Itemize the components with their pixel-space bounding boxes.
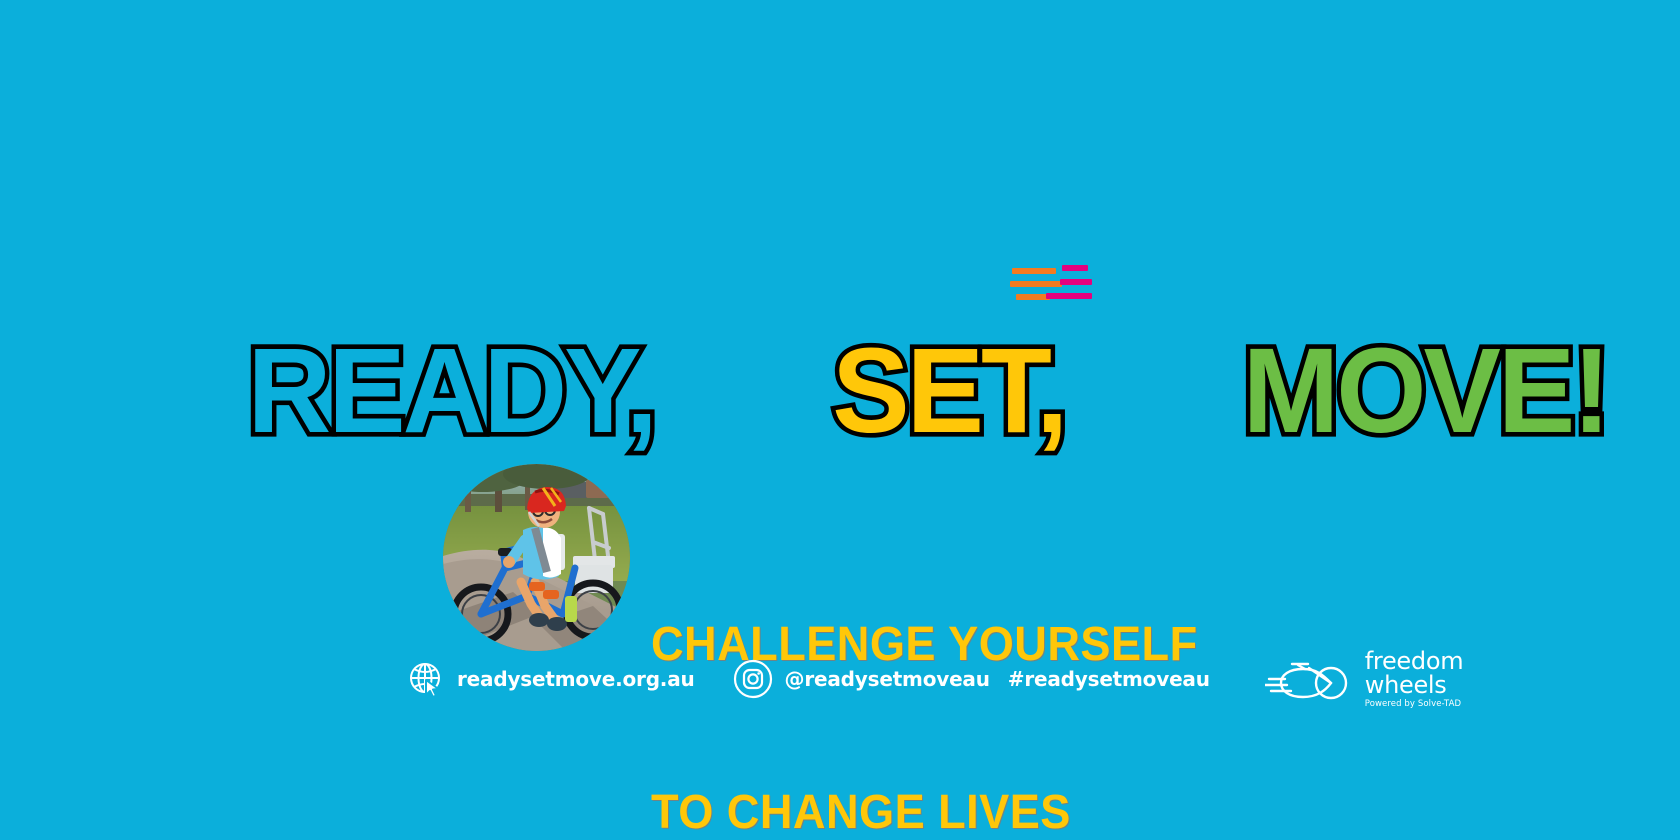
freedom-wheels-tagline: Powered by Solve-TAD [1365, 700, 1464, 709]
speed-line-magenta-2 [1060, 279, 1092, 285]
tagline-line-2: TO CHANGE LIVES [651, 785, 1198, 840]
website-link[interactable]: readysetmove.org.au [408, 661, 695, 697]
freedom-wheels-line-2: wheels [1365, 673, 1464, 697]
speed-line-orange-2 [1010, 281, 1062, 287]
campaign-logo: READY, SET, MOVE! [0, 222, 1680, 546]
freedom-wheels-logo[interactable]: freedom wheels Powered by Solve-TAD [1265, 649, 1464, 709]
logo-word-set-text: SET, [832, 334, 1065, 446]
campaign-hashtag: #readysetmoveau [1008, 667, 1210, 691]
speed-line-magenta-3 [1046, 293, 1092, 299]
instagram-handle: @readysetmoveau [785, 667, 990, 691]
speed-line-orange-1 [1012, 268, 1056, 274]
freedom-wheels-wordmark: freedom wheels Powered by Solve-TAD [1365, 649, 1464, 709]
logo-word-ready-text: READY, [247, 334, 654, 446]
freedom-wheels-bike-icon [1265, 651, 1357, 707]
speed-lines-icon [1010, 262, 1100, 308]
instagram-icon [733, 659, 773, 699]
child-on-adaptive-bike-photo [443, 464, 630, 651]
speed-line-magenta-1 [1062, 265, 1088, 271]
freedom-wheels-line-1: freedom [1365, 649, 1464, 673]
globe-cursor-icon [408, 661, 444, 697]
campaign-banner: READY, SET, MOVE! [0, 0, 1680, 840]
footer-contact-bar: readysetmove.org.au @readysetmoveau #rea… [408, 655, 1463, 703]
website-label: readysetmove.org.au [457, 667, 695, 691]
speed-line-orange-3 [1016, 294, 1050, 300]
logo-word-move-text: MOVE! [1243, 334, 1608, 446]
instagram-link[interactable]: @readysetmoveau [733, 659, 990, 699]
